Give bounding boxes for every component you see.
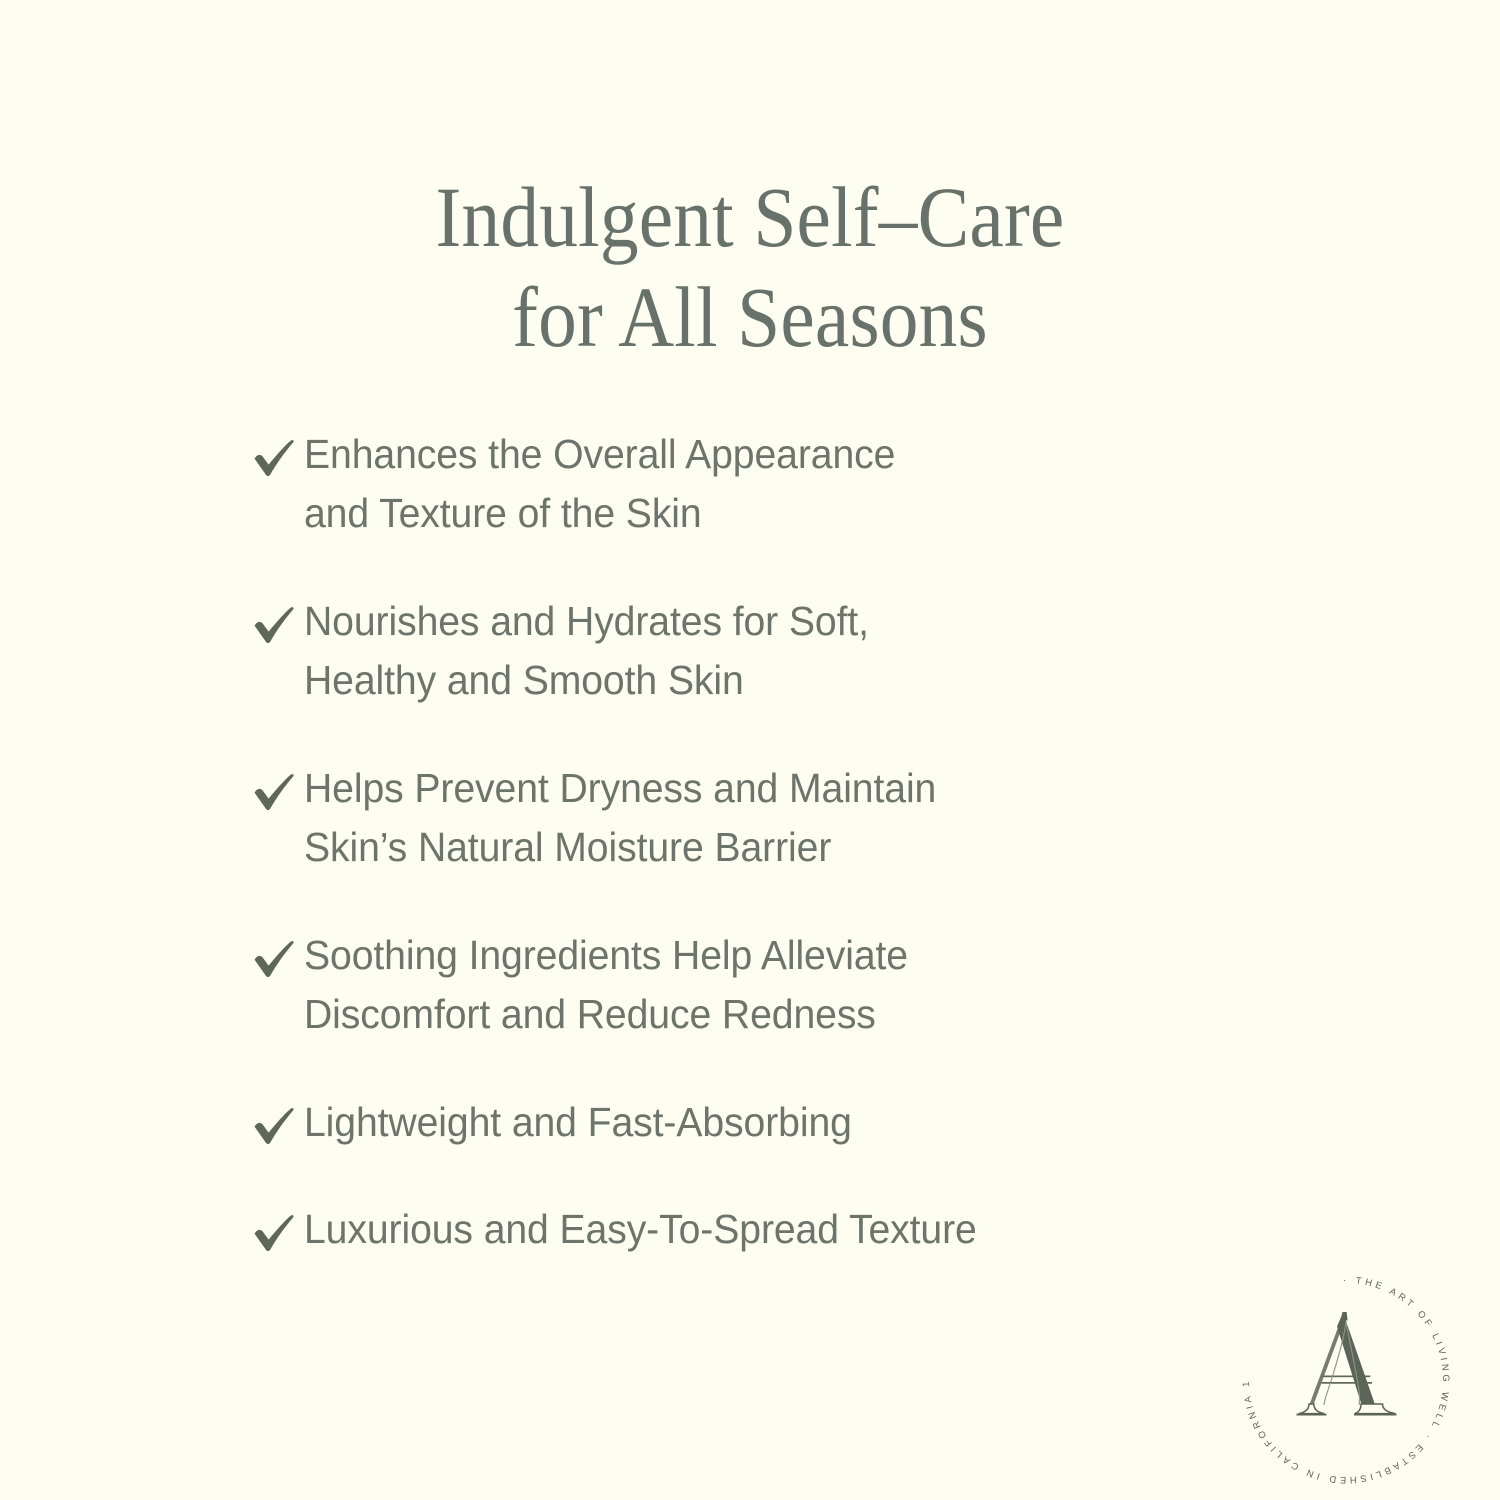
list-item-label: Luxurious and Easy-To-Spread Texture [304,1200,1171,1259]
list-item: Nourishes and Hydrates for Soft, Healthy… [252,592,1212,711]
checkmark-icon [252,926,304,978]
brand-badge: · THE ART OF LIVING WELL · ESTABLISHED I… [1230,1264,1462,1496]
list-item-label: Helps Prevent Dryness and Maintain Skin’… [304,759,1171,878]
list-item-label: Soothing Ingredients Help Alleviate Disc… [304,926,1171,1045]
list-item-line-1: Luxurious and Easy-To-Spread Texture [304,1206,977,1252]
page-title-line-2: for All Seasons [75,268,1425,368]
list-item: Enhances the Overall Appearance and Text… [252,425,1212,544]
checkmark-icon [252,1200,304,1252]
page-title-line-1: Indulgent Self–Care [75,168,1425,268]
list-item: Lightweight and Fast-Absorbing [252,1093,1212,1152]
promo-canvas: Indulgent Self–Care for All Seasons Enha… [0,0,1500,1500]
checkmark-icon [252,1093,304,1145]
checkmark-icon [252,759,304,811]
list-item: Helps Prevent Dryness and Maintain Skin’… [252,759,1212,878]
list-item-line-1: Soothing Ingredients Help Alleviate [304,932,908,978]
benefits-list: Enhances the Overall Appearance and Text… [252,425,1212,1307]
list-item-line-1: Helps Prevent Dryness and Maintain [304,765,936,811]
list-item-line-1: Enhances the Overall Appearance [304,431,895,477]
list-item-line-1: Lightweight and Fast-Absorbing [304,1099,852,1145]
list-item-label: Nourishes and Hydrates for Soft, Healthy… [304,592,1171,711]
list-item-line-2: Discomfort and Reduce Redness [304,985,1171,1044]
list-item-line-2: and Texture of the Skin [304,484,1171,543]
list-item: Soothing Ingredients Help Alleviate Disc… [252,926,1212,1045]
list-item-line-2: Healthy and Smooth Skin [304,651,1171,710]
list-item-line-2: Skin’s Natural Moisture Barrier [304,818,1171,877]
list-item-label: Enhances the Overall Appearance and Text… [304,425,1171,544]
checkmark-icon [252,592,304,644]
list-item: Luxurious and Easy-To-Spread Texture [252,1200,1212,1259]
badge-ring-text: · THE ART OF LIVING WELL · ESTABLISHED I… [1230,1264,1452,1486]
checkmark-icon [252,425,304,477]
list-item-line-1: Nourishes and Hydrates for Soft, [304,598,869,644]
list-item-label: Lightweight and Fast-Absorbing [304,1093,1171,1152]
page-title: Indulgent Self–Care for All Seasons [0,168,1500,368]
badge-ring-label: · THE ART OF LIVING WELL · ESTABLISHED I… [1230,1264,1452,1486]
monogram-a [1297,1312,1397,1416]
